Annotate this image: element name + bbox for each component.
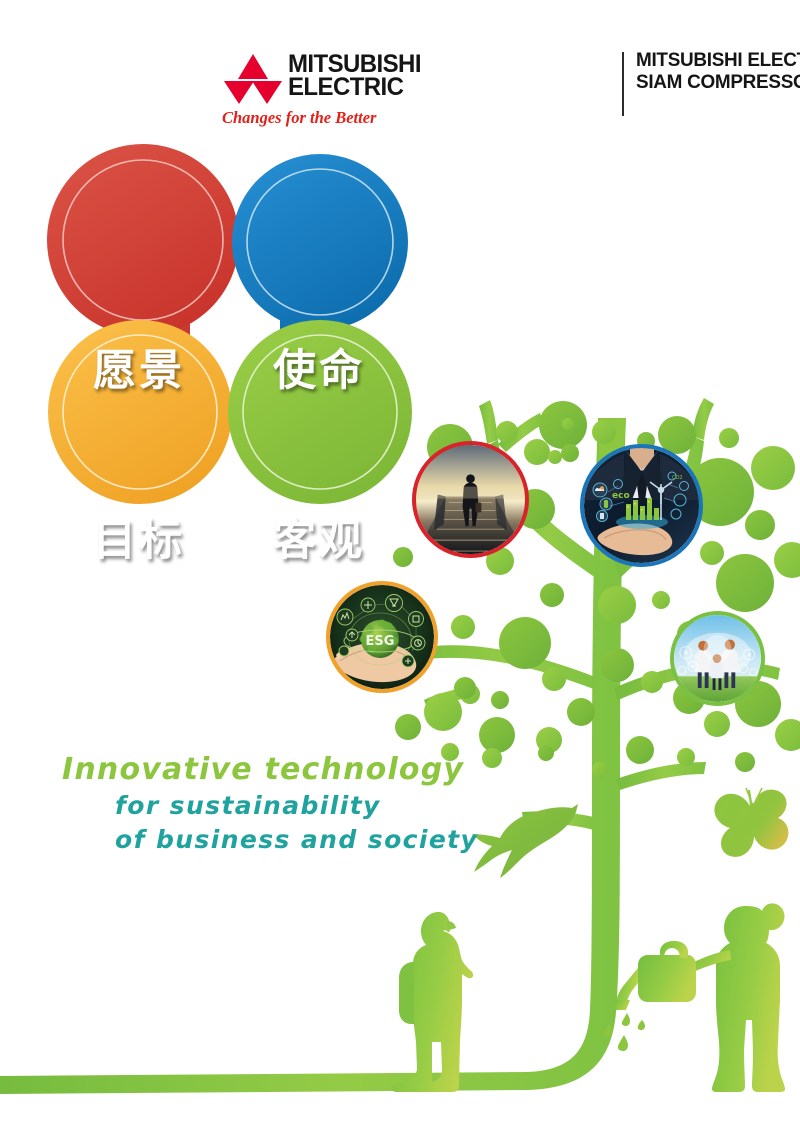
svg-text:CO2: CO2 <box>672 475 683 481</box>
eco-technology-photo: eco CO2 <box>580 444 703 567</box>
esg-globe-photo: ESG <box>326 581 438 693</box>
boy-with-backpack-silhouette <box>392 912 473 1092</box>
header-divider <box>622 52 624 116</box>
mitsubishi-electric-logo: MITSUBISHI ELECTRIC Changes for the Bett… <box>222 48 397 132</box>
logo-word-electric: ELECTRIC <box>288 76 421 99</box>
bubble-mission <box>232 154 408 330</box>
header: MITSUBISHI ELECTRIC Changes for the Bett… <box>0 48 800 138</box>
company-name: MITSUBISHI ELECTRIC SIAM COMPRESSOR INDU… <box>636 50 800 94</box>
girl-watering-silhouette <box>604 903 785 1092</box>
stairs-to-success-photo <box>412 441 529 558</box>
bubble-objective <box>228 320 412 504</box>
bubble-goal <box>48 320 232 504</box>
svg-text:eco: eco <box>612 491 630 501</box>
company-line-2: SIAM COMPRESSOR INDUSTRY CO., LTD. <box>636 72 800 94</box>
butterfly-silhouette <box>714 788 788 857</box>
three-diamonds-icon <box>222 52 284 104</box>
logo-tagline: Changes for the Better <box>222 108 397 128</box>
family-in-field-photo <box>670 611 765 706</box>
bubble-vision <box>47 144 239 336</box>
vision-mission-cluster: 愿景 使命 目标 客观 <box>40 140 430 510</box>
company-line-1: MITSUBISHI ELECTRIC <box>636 50 800 72</box>
tagline-line-2: for sustainability <box>115 791 381 820</box>
svg-text:ESG: ESG <box>366 634 395 649</box>
tagline-line-1: Innovative technology <box>62 752 464 787</box>
mitsubishi-electric-wordmark: MITSUBISHI ELECTRIC <box>288 53 426 100</box>
poster-page: MITSUBISHI ELECTRIC Changes for the Bett… <box>0 0 800 1131</box>
tagline-line-3: of business and society <box>115 825 478 854</box>
